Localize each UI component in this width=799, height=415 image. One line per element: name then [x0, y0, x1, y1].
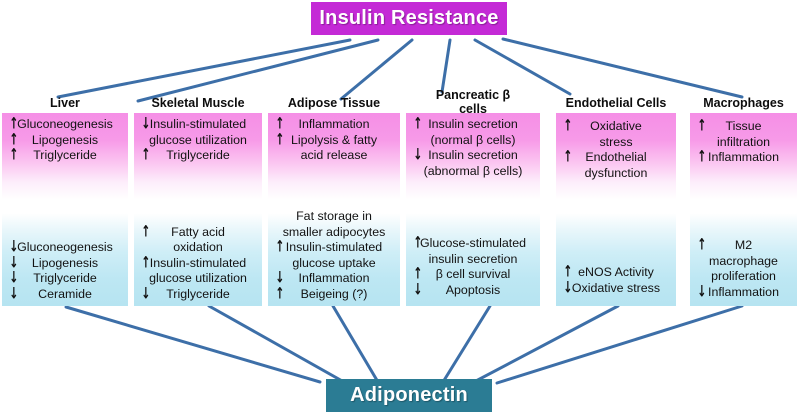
entry-line: Triglyceride [166, 287, 230, 303]
entry-text: Gluconeogenesis [17, 117, 113, 133]
increase-group-adipose-tissue: ↑Inflammation↑Lipolysis & fattyacid rele… [268, 117, 400, 164]
entry-line: (abnormal β cells) [424, 164, 523, 180]
entry-skeletal-muscle-decrease-1: ↑Insulin-stimulatedglucose utilization [134, 256, 262, 287]
entry-pancreatic-beta-cells-increase-0: ↑Insulin secretion(normal β cells) [406, 117, 540, 148]
entry-line: glucose uptake [286, 256, 382, 272]
entry-text: Insulin secretion(normal β cells) [428, 117, 518, 148]
connector-bottom-adipose-tissue [333, 306, 378, 382]
arrow-up-icon: ↑ [141, 147, 150, 164]
arrow-up-icon: ↑ [275, 239, 284, 256]
arrow-up-icon: ↑ [275, 132, 284, 149]
increase-group-pancreatic-beta-cells: ↑Insulin secretion(normal β cells)↓Insul… [406, 117, 540, 179]
entry-text: Inflammation [708, 150, 779, 166]
arrow-down-icon: ↓ [413, 282, 422, 299]
entry-adipose-tissue-decrease-0: Fat storage insmaller adipocytes [268, 209, 400, 240]
arrow-up-icon: ↑ [697, 149, 706, 166]
column-header-line: Pancreatic β [406, 88, 540, 102]
entry-line: Lipolysis & fatty [291, 133, 377, 149]
entry-line: proliferation [709, 269, 778, 285]
entry-line: Ceramide [38, 287, 92, 303]
entry-macrophages-decrease-1: ↓Inflammation [690, 285, 797, 301]
entry-line: Fat storage in [283, 209, 386, 225]
connector-bottom-pancreatic [443, 306, 490, 382]
entry-text: Gluconeogenesis [17, 240, 113, 256]
entry-line: β cell survival [436, 267, 511, 283]
connector-top-adipose-tissue [341, 40, 412, 99]
entry-text: Lipogenesis [32, 133, 98, 149]
arrow-down-icon: ↓ [141, 286, 150, 303]
entry-text: Glucose-stimulatedinsulin secretion [420, 236, 526, 267]
entry-text: Inflammation [708, 285, 779, 301]
entry-pancreatic-beta-cells-decrease-1: ↑β cell survival [406, 267, 540, 283]
column-header-line: Macrophages [690, 96, 797, 110]
entry-endothelial-cells-increase-1: ↑Endothelialdysfunction [556, 150, 676, 181]
entry-adipose-tissue-decrease-3: ↑Beigeing (?) [268, 287, 400, 303]
entry-line: Inflammation [299, 271, 370, 287]
decrease-group-pancreatic-beta-cells: ↑Glucose-stimulatedinsulin secretion↑β c… [406, 236, 540, 298]
entry-line: (normal β cells) [428, 133, 518, 149]
column-header-liver: Liver [2, 96, 128, 110]
entry-line: infiltration [717, 135, 770, 151]
adiponectin-label: Adiponectin [350, 384, 468, 407]
entry-line: Triglyceride [33, 148, 97, 164]
entry-text: Insulin secretion(abnormal β cells) [424, 148, 523, 179]
entry-text: β cell survival [436, 267, 511, 283]
entry-line: Inflammation [299, 117, 370, 133]
entry-line: oxidation [171, 240, 225, 256]
increase-group-endothelial-cells: ↑Oxidativestress↑Endothelialdysfunction [556, 119, 676, 181]
entry-pancreatic-beta-cells-decrease-0: ↑Glucose-stimulatedinsulin secretion [406, 236, 540, 267]
entry-line: insulin secretion [420, 252, 526, 268]
entry-text: Ceramide [38, 287, 92, 303]
decrease-group-adipose-tissue: Fat storage insmaller adipocytes↑Insulin… [268, 209, 400, 302]
entry-line: Beigeing (?) [301, 287, 368, 303]
insulin-resistance-label: Insulin Resistance [319, 7, 498, 30]
entry-text: Endothelialdysfunction [585, 150, 648, 181]
arrow-down-icon: ↓ [563, 280, 572, 297]
entry-line: Triglyceride [33, 271, 97, 287]
entry-line: stress [590, 135, 642, 151]
entry-adipose-tissue-increase-1: ↑Lipolysis & fattyacid release [268, 133, 400, 164]
panel-adipose-tissue[interactable]: ↑Inflammation↑Lipolysis & fattyacid rele… [268, 113, 400, 306]
entry-line: Oxidative stress [572, 281, 660, 297]
connector-bottom-macrophages [497, 306, 742, 383]
entry-line: dysfunction [585, 166, 648, 182]
increase-group-macrophages: ↑Tissueinfiltration↑Inflammation [690, 119, 797, 166]
panel-inner: ↑Tissueinfiltration↑Inflammation↑M2macro… [690, 113, 797, 306]
increase-group-skeletal-muscle: ↓Insulin-stimulatedglucose utilization↑T… [134, 117, 262, 164]
entry-line: smaller adipocytes [283, 225, 386, 241]
entry-line: eNOS Activity [578, 265, 654, 281]
entry-text: Insulin-stimulatedglucose uptake [286, 240, 382, 271]
column-header-line: Endothelial Cells [556, 96, 676, 110]
panel-pancreatic-beta-cells[interactable]: ↑Insulin secretion(normal β cells)↓Insul… [406, 113, 540, 306]
entry-macrophages-decrease-0: ↑M2macrophageproliferation [690, 238, 797, 285]
entry-text: Oxidativestress [590, 119, 642, 150]
panel-endothelial-cells[interactable]: ↑Oxidativestress↑Endothelialdysfunction↑… [556, 113, 676, 306]
column-header-skeletal-muscle: Skeletal Muscle [134, 96, 262, 110]
entry-adipose-tissue-decrease-1: ↑Insulin-stimulatedglucose uptake [268, 240, 400, 271]
entry-macrophages-increase-1: ↑Inflammation [690, 150, 797, 166]
entry-line: Insulin secretion [428, 117, 518, 133]
arrow-up-icon: ↑ [141, 255, 150, 272]
entry-text: Apoptosis [446, 283, 500, 299]
connector-bottom-endothelial [474, 306, 618, 382]
entry-text: Inflammation [299, 117, 370, 133]
entry-liver-decrease-0: ↓Gluconeogenesis [2, 240, 128, 256]
arrow-up-icon: ↑ [697, 237, 706, 254]
connector-top-skeletal-muscle [138, 40, 378, 101]
entry-line: Gluconeogenesis [17, 240, 113, 256]
entry-text: Triglyceride [33, 148, 97, 164]
entry-text: Insulin-stimulatedglucose utilization [149, 256, 247, 287]
column-header-line: Skeletal Muscle [134, 96, 262, 110]
column-header-pancreatic-beta-cells: Pancreatic βcells [406, 88, 540, 116]
insulin-resistance-box[interactable]: Insulin Resistance [311, 2, 507, 35]
entry-skeletal-muscle-increase-0: ↓Insulin-stimulatedglucose utilization [134, 117, 262, 148]
entry-line: Oxidative [590, 119, 642, 135]
entry-line: glucose utilization [149, 133, 247, 149]
decrease-group-liver: ↓Gluconeogenesis↓Lipogenesis↓Triglycerid… [2, 240, 128, 302]
entry-line: glucose utilization [149, 271, 247, 287]
column-header-line: Adipose Tissue [268, 96, 400, 110]
entry-text: Insulin-stimulatedglucose utilization [149, 117, 247, 148]
entry-line: M2 [709, 238, 778, 254]
entry-text: Inflammation [299, 271, 370, 287]
entry-text: Fatty acidoxidation [171, 225, 225, 256]
entry-line: Insulin-stimulated [286, 240, 382, 256]
panel-inner: ↑Oxidativestress↑Endothelialdysfunction↑… [556, 113, 676, 306]
entry-text: Lipolysis & fattyacid release [291, 133, 377, 164]
arrow-down-icon: ↓ [141, 116, 150, 133]
arrow-up-icon: ↑ [141, 224, 150, 241]
entry-pancreatic-beta-cells-increase-1: ↓Insulin secretion(abnormal β cells) [406, 148, 540, 179]
diagram-canvas: Insulin Resistance Adiponectin Liver↑Glu… [0, 0, 799, 415]
entry-pancreatic-beta-cells-decrease-2: ↓Apoptosis [406, 283, 540, 299]
entry-skeletal-muscle-decrease-2: ↓Triglyceride [134, 287, 262, 303]
entry-text: M2macrophageproliferation [709, 238, 778, 285]
arrow-down-icon: ↓ [697, 284, 706, 301]
entry-liver-decrease-1: ↓Lipogenesis [2, 256, 128, 272]
entry-text: Triglyceride [166, 148, 230, 164]
entry-adipose-tissue-decrease-2: ↓Inflammation [268, 271, 400, 287]
entry-liver-increase-0: ↑Gluconeogenesis [2, 117, 128, 133]
arrow-up-icon: ↑ [697, 118, 706, 135]
entry-line: Gluconeogenesis [17, 117, 113, 133]
arrow-down-icon: ↓ [9, 286, 18, 303]
arrow-up-icon: ↑ [413, 116, 422, 133]
panel-inner: ↑Insulin secretion(normal β cells)↓Insul… [406, 113, 540, 306]
entry-endothelial-cells-decrease-1: ↓Oxidative stress [556, 281, 676, 297]
adiponectin-box[interactable]: Adiponectin [326, 379, 492, 412]
column-header-endothelial-cells: Endothelial Cells [556, 96, 676, 110]
arrow-up-icon: ↑ [9, 147, 18, 164]
entry-text: Triglyceride [33, 271, 97, 287]
entry-line: Tissue [717, 119, 770, 135]
entry-text: Triglyceride [166, 287, 230, 303]
entry-text: Beigeing (?) [301, 287, 368, 303]
entry-line: Fatty acid [171, 225, 225, 241]
entry-liver-decrease-2: ↓Triglyceride [2, 271, 128, 287]
arrow-up-icon: ↑ [563, 149, 572, 166]
decrease-group-endothelial-cells: ↑eNOS Activity↓Oxidative stress [556, 265, 676, 296]
entry-endothelial-cells-increase-0: ↑Oxidativestress [556, 119, 676, 150]
column-header-line: cells [406, 102, 540, 116]
entry-skeletal-muscle-decrease-0: ↑Fatty acidoxidation [134, 225, 262, 256]
entry-macrophages-increase-0: ↑Tissueinfiltration [690, 119, 797, 150]
column-header-line: Liver [2, 96, 128, 110]
entry-adipose-tissue-increase-0: ↑Inflammation [268, 117, 400, 133]
entry-text: eNOS Activity [578, 265, 654, 281]
increase-group-liver: ↑Gluconeogenesis↑Lipogenesis↑Triglycerid… [2, 117, 128, 164]
panel-inner: ↑Inflammation↑Lipolysis & fattyacid rele… [268, 113, 400, 306]
arrow-down-icon: ↓ [413, 147, 422, 164]
decrease-group-skeletal-muscle: ↑Fatty acidoxidation↑Insulin-stimulatedg… [134, 225, 262, 303]
entry-liver-decrease-3: ↓Ceramide [2, 287, 128, 303]
entry-line: Insulin-stimulated [149, 256, 247, 272]
connector-bottom-liver [66, 307, 320, 382]
panel-inner: ↑Gluconeogenesis↑Lipogenesis↑Triglycerid… [2, 113, 128, 306]
entry-text: Tissueinfiltration [717, 119, 770, 150]
arrow-up-icon: ↑ [275, 286, 284, 303]
entry-endothelial-cells-decrease-0: ↑eNOS Activity [556, 265, 676, 281]
connector-top-liver [58, 40, 350, 97]
entry-text: Fat storage insmaller adipocytes [283, 209, 386, 240]
entry-line: Insulin-stimulated [149, 117, 247, 133]
column-header-adipose-tissue: Adipose Tissue [268, 96, 400, 110]
entry-line: Inflammation [708, 285, 779, 301]
arrow-up-icon: ↑ [413, 235, 422, 252]
entry-line: Apoptosis [446, 283, 500, 299]
entry-line: acid release [291, 148, 377, 164]
connector-top-pancreatic [442, 40, 450, 92]
panel-macrophages[interactable]: ↑Tissueinfiltration↑Inflammation↑M2macro… [690, 113, 797, 306]
entry-text: Oxidative stress [572, 281, 660, 297]
entry-liver-increase-1: ↑Lipogenesis [2, 133, 128, 149]
entry-line: Insulin secretion [424, 148, 523, 164]
arrow-up-icon: ↑ [563, 118, 572, 135]
column-header-macrophages: Macrophages [690, 96, 797, 110]
decrease-group-macrophages: ↑M2macrophageproliferation↓Inflammation [690, 238, 797, 300]
entry-line: Glucose-stimulated [420, 236, 526, 252]
connector-bottom-skeletal-muscle [209, 306, 344, 382]
panel-inner: ↓Insulin-stimulatedglucose utilization↑T… [134, 113, 262, 306]
panel-skeletal-muscle[interactable]: ↓Insulin-stimulatedglucose utilization↑T… [134, 113, 262, 306]
entry-liver-increase-2: ↑Triglyceride [2, 148, 128, 164]
entry-line: macrophage [709, 254, 778, 270]
entry-line: Lipogenesis [32, 133, 98, 149]
entry-skeletal-muscle-increase-1: ↑Triglyceride [134, 148, 262, 164]
entry-line: Triglyceride [166, 148, 230, 164]
entry-line: Endothelial [585, 150, 648, 166]
connector-top-endothelial [475, 40, 570, 94]
entry-text: Lipogenesis [32, 256, 98, 272]
entry-line: Lipogenesis [32, 256, 98, 272]
entry-line: Inflammation [708, 150, 779, 166]
panel-liver[interactable]: ↑Gluconeogenesis↑Lipogenesis↑Triglycerid… [2, 113, 128, 306]
